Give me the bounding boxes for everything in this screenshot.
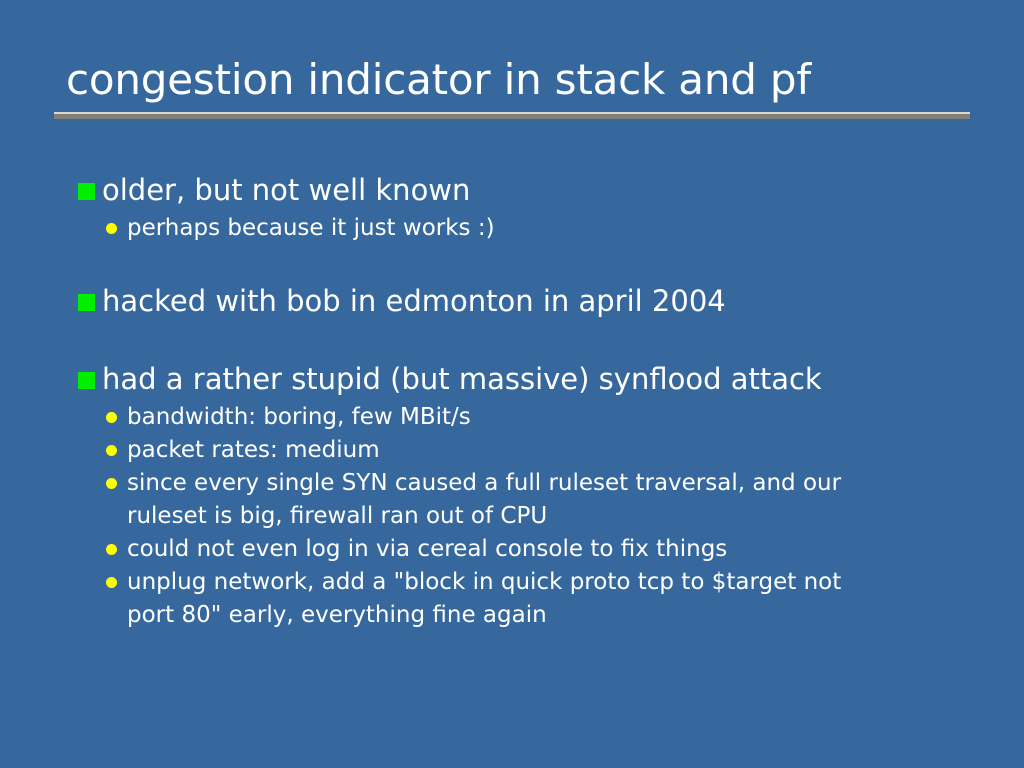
title-block: congestion indicator in stack and pf (54, 52, 970, 108)
bullet-level2: packet rates: medium (0, 434, 1024, 467)
bullet-level1: hacked with bob in edmonton in april 200… (0, 281, 1024, 321)
bullet-level2: unplug network, add a "block in quick pr… (0, 566, 1024, 632)
bullet-text: perhaps because it just works :) (127, 212, 894, 245)
disc-bullet-icon (106, 544, 117, 555)
bullet-level2: bandwidth: boring, few MBit/s (0, 401, 1024, 434)
bullet-text: unplug network, add a "block in quick pr… (127, 566, 894, 632)
disc-bullet-icon (106, 223, 117, 234)
disc-bullet-icon (106, 445, 117, 456)
slide-body: older, but not well known perhaps becaus… (0, 170, 1024, 632)
bullet-level2: since every single SYN caused a full rul… (0, 467, 1024, 533)
bullet-text: bandwidth: boring, few MBit/s (127, 401, 894, 434)
bullet-text: hacked with bob in edmonton in april 200… (102, 281, 964, 321)
bullet-text: could not even log in via cereal console… (127, 533, 894, 566)
title-underline-rule (54, 112, 970, 120)
page-title: congestion indicator in stack and pf (54, 52, 970, 108)
disc-bullet-icon (106, 478, 117, 489)
bullet-level2: perhaps because it just works :) (0, 212, 1024, 245)
disc-bullet-icon (106, 412, 117, 423)
bullet-level2: could not even log in via cereal console… (0, 533, 1024, 566)
disc-bullet-icon (106, 577, 117, 588)
bullet-text: older, but not well known (102, 170, 964, 210)
bullet-level1: older, but not well known (0, 170, 1024, 210)
square-bullet-icon (78, 372, 95, 389)
bullet-level1: had a rather stupid (but massive) synflo… (0, 359, 1024, 399)
square-bullet-icon (78, 294, 95, 311)
title-rule-shadow (54, 114, 970, 119)
bullet-text: packet rates: medium (127, 434, 894, 467)
bullet-text: had a rather stupid (but massive) synflo… (102, 359, 964, 399)
bullet-group-spacer (0, 245, 1024, 281)
bullet-group-spacer (0, 323, 1024, 359)
presentation-slide: congestion indicator in stack and pf old… (0, 0, 1024, 768)
bullet-text: since every single SYN caused a full rul… (127, 467, 894, 533)
square-bullet-icon (78, 183, 95, 200)
